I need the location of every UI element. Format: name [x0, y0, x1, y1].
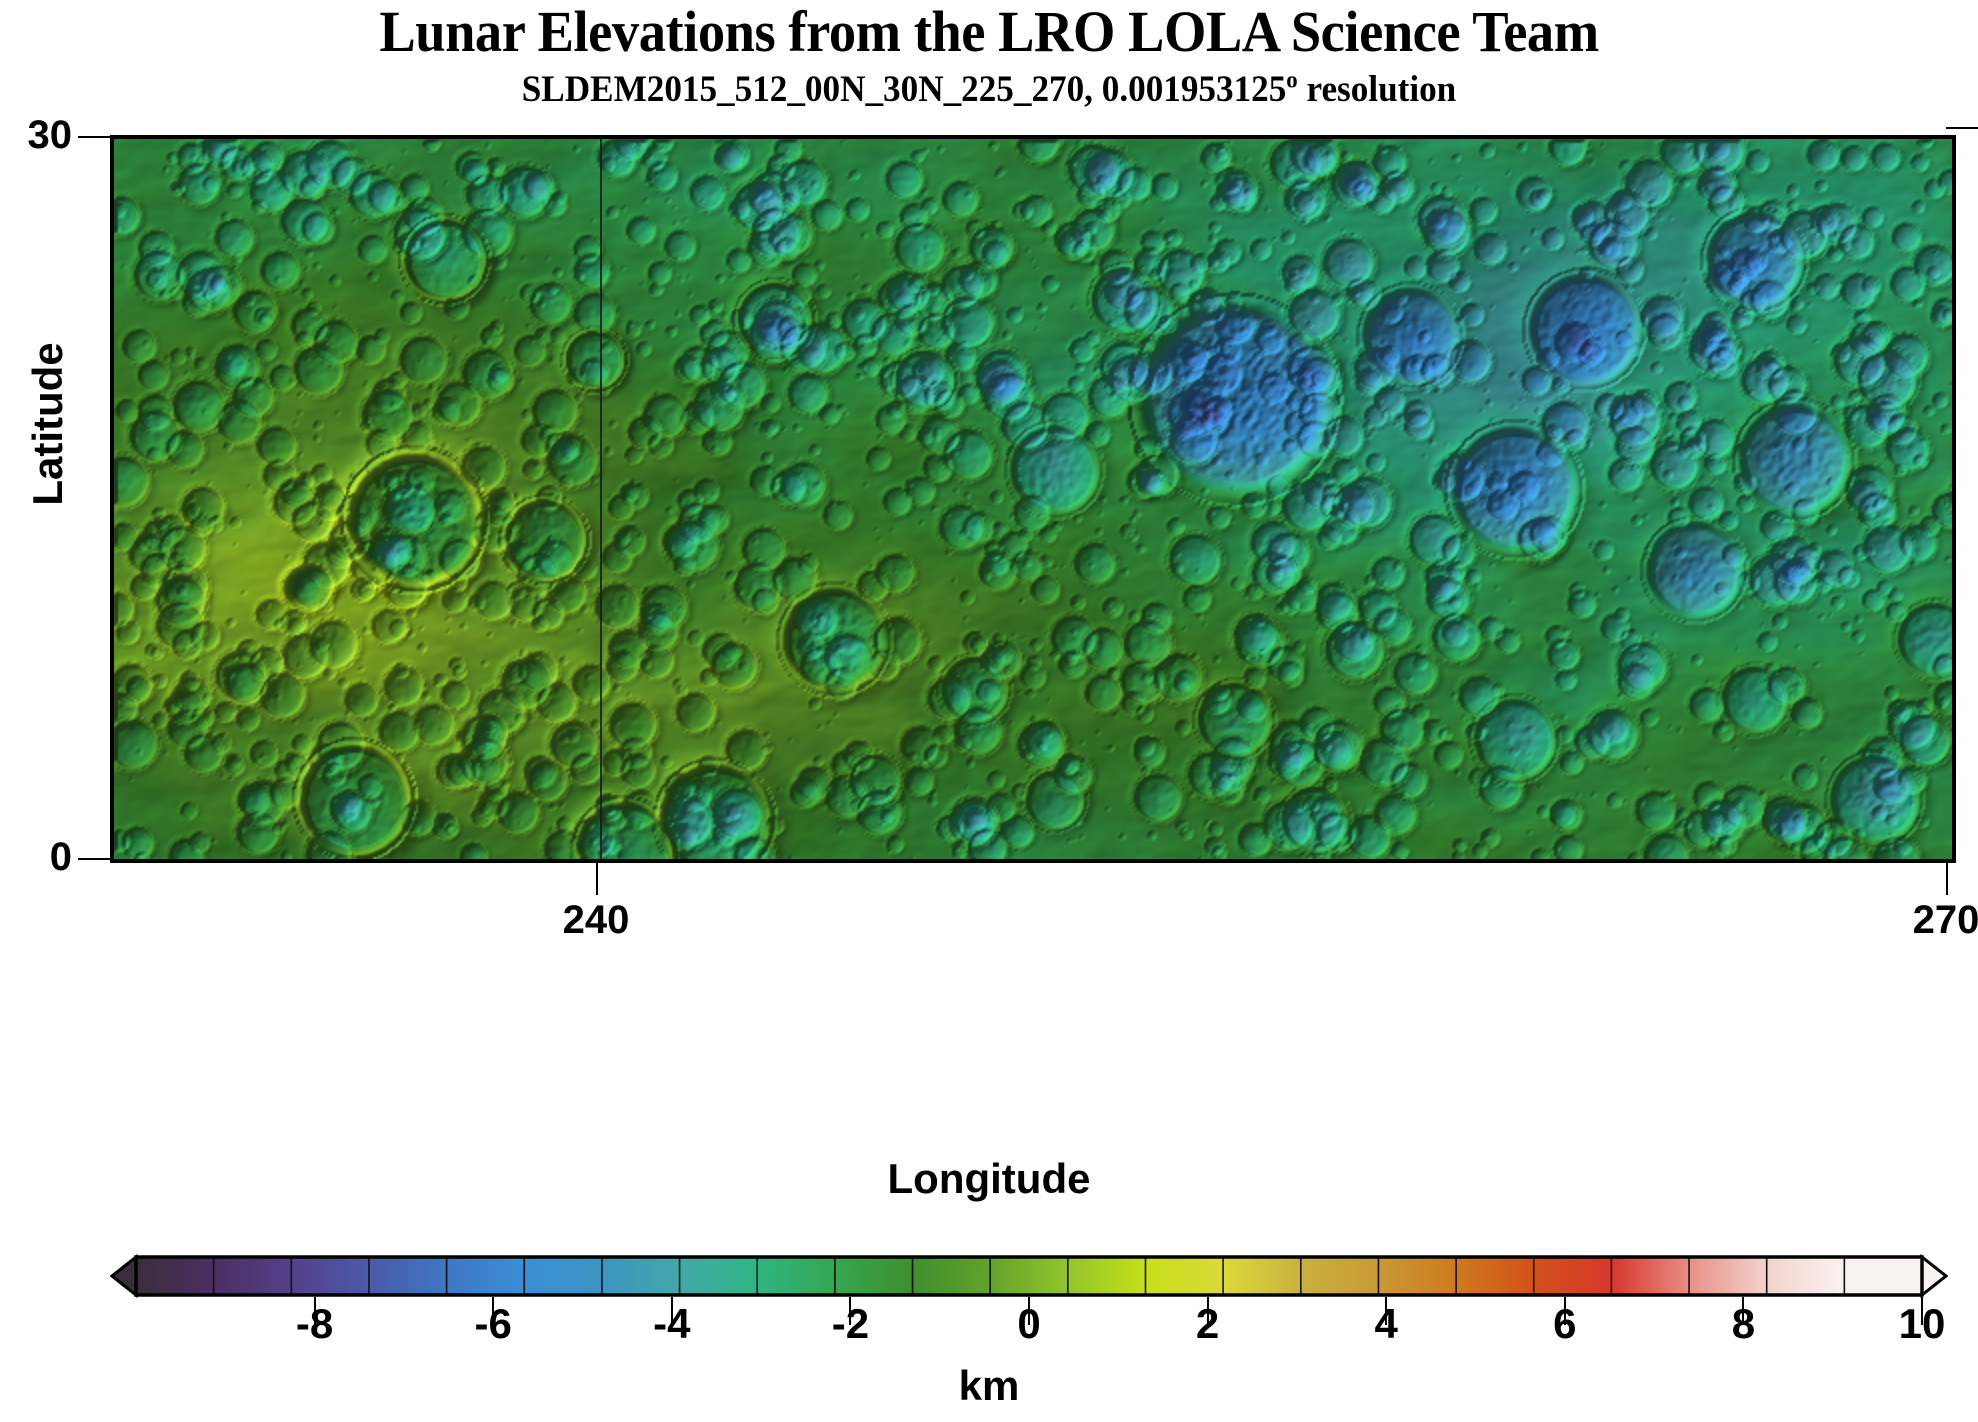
- x-tick-270: [1946, 861, 1948, 895]
- elevation-map-panel[interactable]: [110, 135, 1956, 863]
- y-ticklabel-30: 30: [16, 113, 72, 158]
- figure-title: Lunar Elevations from the LRO LOLA Scien…: [59, 0, 1918, 65]
- x-tick-240: [596, 861, 598, 895]
- colorbar-ticklabel-8: 8: [1732, 1300, 1755, 1348]
- colorbar-ticklabels: -8-6-4-20246810: [0, 1300, 1978, 1360]
- colorbar-ticklabel--8: -8: [296, 1300, 333, 1348]
- colorbar-ticklabel-10: 10: [1899, 1300, 1946, 1348]
- y-axis-label: Latitude: [24, 314, 72, 534]
- x-ticklabel-270: 270: [1913, 898, 1978, 943]
- colorbar-ticklabel--6: -6: [475, 1300, 512, 1348]
- figure-root: Lunar Elevations from the LRO LOLA Scien…: [0, 0, 1978, 1422]
- x-ticklabel-240: 240: [563, 898, 630, 943]
- colorbar-ticklabel-2: 2: [1196, 1300, 1219, 1348]
- colorbar-ticklabel--2: -2: [832, 1300, 869, 1348]
- lunar-elevation-heatmap[interactable]: [114, 139, 1952, 859]
- colorbar-ticklabel-4: 4: [1375, 1300, 1398, 1348]
- colorbar-ticklabel--4: -4: [653, 1300, 690, 1348]
- colorbar-unit-label: km: [0, 1362, 1978, 1410]
- x-tick-270-top: [1946, 127, 1978, 129]
- y-tick-0: [78, 858, 112, 860]
- colorbar-ticklabel-6: 6: [1553, 1300, 1576, 1348]
- colorbar-ticklabel-0: 0: [1017, 1300, 1040, 1348]
- subtitle-degree-symbol: o: [1286, 68, 1297, 94]
- meridian-line-240: [600, 139, 602, 859]
- subtitle-main: SLDEM2015_512_00N_30N_225_270, 0.0019531…: [522, 69, 1287, 110]
- y-ticklabel-0: 0: [16, 835, 72, 880]
- figure-subtitle: SLDEM2015_512_00N_30N_225_270, 0.0019531…: [49, 68, 1928, 111]
- colorbar-gradient: [110, 1253, 1948, 1299]
- colorbar[interactable]: [110, 1253, 1948, 1299]
- y-tick-30: [78, 136, 112, 138]
- x-axis-label: Longitude: [0, 1155, 1978, 1203]
- subtitle-tail: resolution: [1298, 69, 1457, 110]
